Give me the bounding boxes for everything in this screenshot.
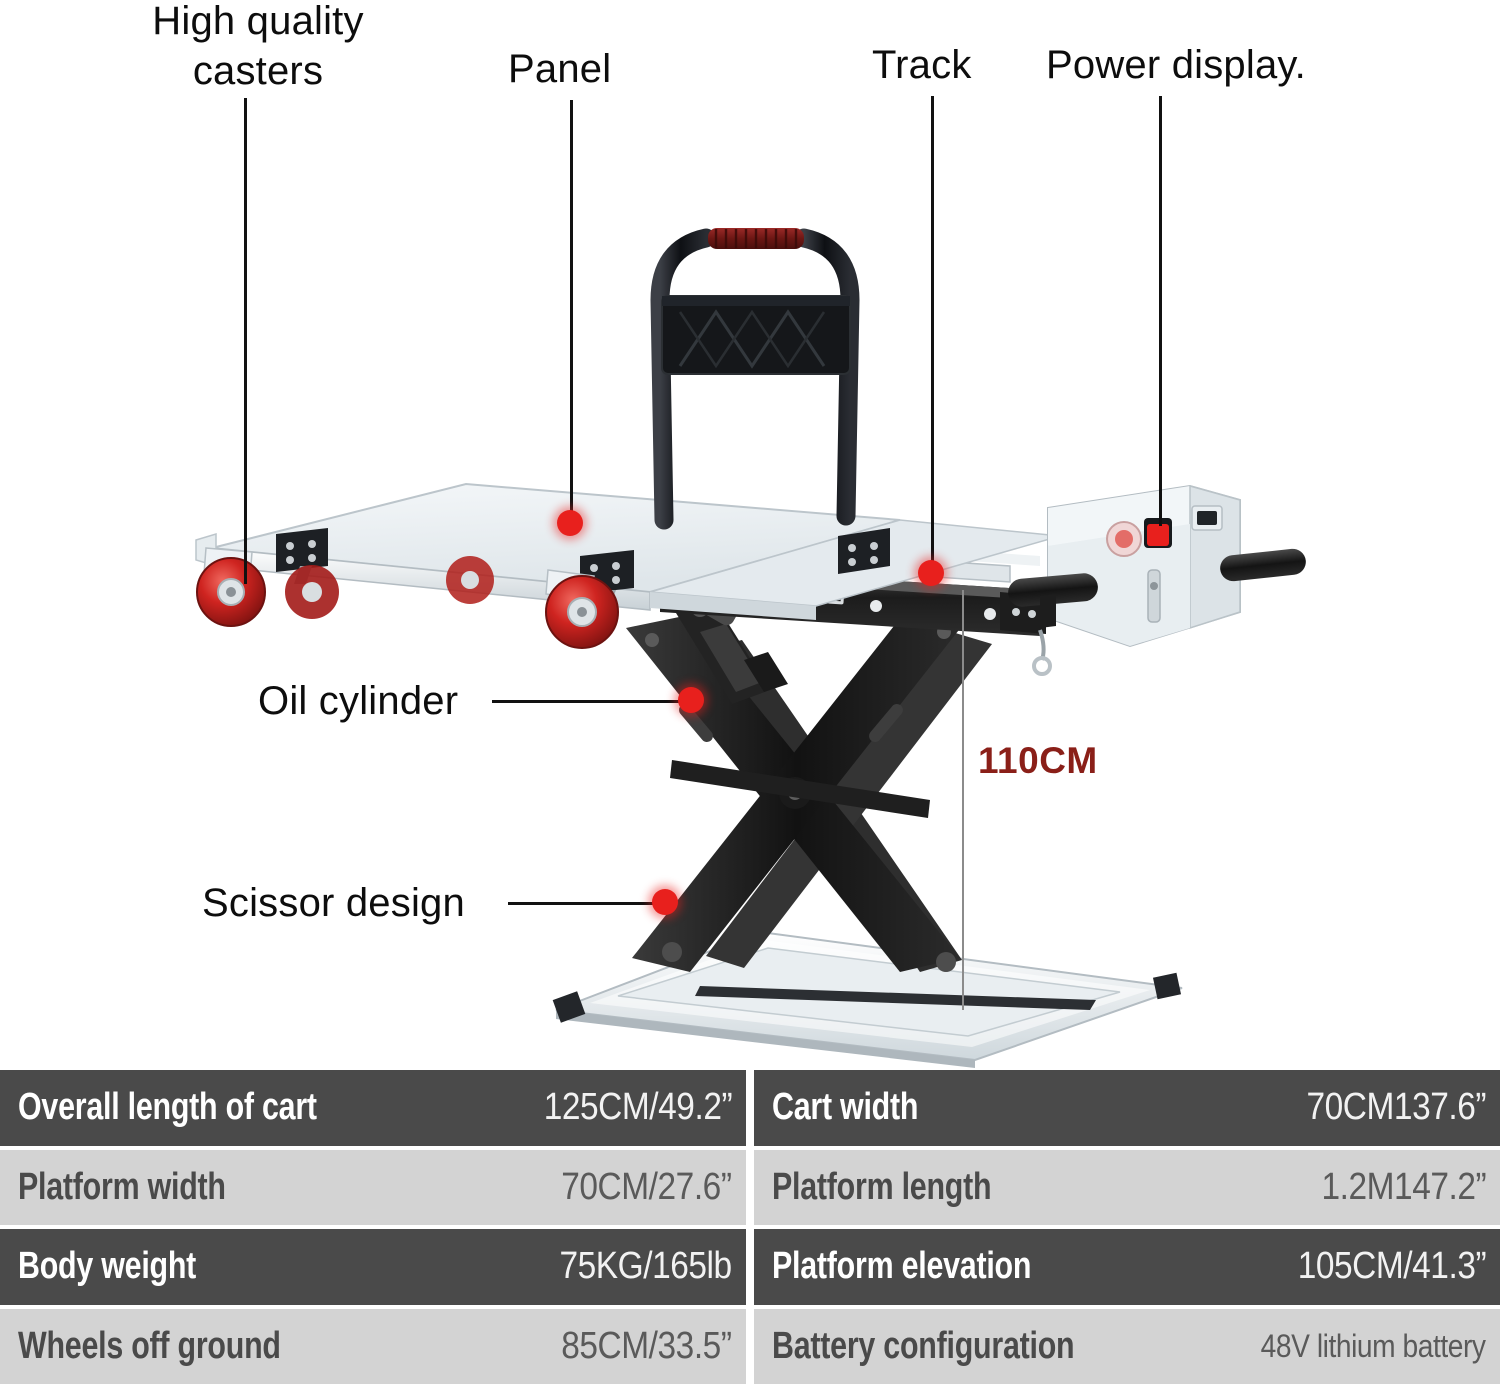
callout-scissor-design: Scissor design <box>202 878 465 928</box>
spec-value: 70CM137.6” <box>1306 1086 1486 1129</box>
spec-value: 1.2M147.2” <box>1321 1166 1486 1209</box>
marker-dot-oil-cylinder <box>678 687 704 713</box>
spec-value: 105CM/41.3” <box>1298 1245 1486 1288</box>
specification-table: Overall length of cart 125CM/49.2” Platf… <box>0 1070 1500 1384</box>
push-handle <box>660 228 850 520</box>
leader-line-scissor-design <box>508 902 660 905</box>
spec-label: Cart width <box>772 1086 918 1129</box>
dimension-line-height <box>962 590 964 1010</box>
spec-label: Platform width <box>18 1166 226 1209</box>
spec-value: 48V lithium battery <box>1261 1328 1486 1365</box>
spec-row-platform-elevation: Platform elevation 105CM/41.3” <box>754 1229 1500 1305</box>
leader-line-oil-cylinder <box>492 700 690 703</box>
spec-label: Platform elevation <box>772 1245 1031 1288</box>
spec-label: Body weight <box>18 1245 196 1288</box>
spec-label: Wheels off ground <box>18 1325 281 1368</box>
spec-row-wheels-off-ground: Wheels off ground 85CM/33.5” <box>0 1309 746 1384</box>
spec-value: 70CM/27.6” <box>562 1166 732 1209</box>
spec-row-overall-length: Overall length of cart 125CM/49.2” <box>0 1070 746 1146</box>
spec-row-body-weight: Body weight 75KG/165lb <box>0 1229 746 1305</box>
callout-high-quality-casters: High quality casters <box>108 0 408 96</box>
spec-label: Battery configuration <box>772 1325 1074 1368</box>
spec-table-right-column: Cart width 70CM137.6” Platform length 1.… <box>754 1070 1500 1384</box>
spec-row-battery-configuration: Battery configuration 48V lithium batter… <box>754 1309 1500 1384</box>
marker-dot-track <box>918 560 944 586</box>
leader-line-casters <box>244 98 247 584</box>
spec-row-cart-width: Cart width 70CM137.6” <box>754 1070 1500 1146</box>
callout-track: Track <box>872 40 972 90</box>
spec-table-left-column: Overall length of cart 125CM/49.2” Platf… <box>0 1070 746 1384</box>
product-diagram: High quality casters Panel Track Power d… <box>0 0 1500 1070</box>
scissor-mechanism <box>626 612 992 972</box>
spec-label: Overall length of cart <box>18 1086 317 1129</box>
marker-dot-scissor-design <box>652 889 678 915</box>
control-box <box>1007 486 1307 646</box>
leader-line-power-display <box>1159 96 1162 526</box>
spec-value: 125CM/49.2” <box>544 1086 732 1129</box>
callout-power-display: Power display. <box>1046 40 1306 90</box>
callout-panel: Panel <box>508 44 611 94</box>
leader-line-track <box>931 96 934 566</box>
marker-dot-panel <box>557 510 583 536</box>
spec-value: 85CM/33.5” <box>562 1325 732 1368</box>
dimension-label-height: 110CM <box>978 740 1098 782</box>
spec-label: Platform length <box>772 1166 991 1209</box>
callout-oil-cylinder: Oil cylinder <box>258 676 458 726</box>
spec-row-platform-length: Platform length 1.2M147.2” <box>754 1150 1500 1226</box>
spec-row-platform-width: Platform width 70CM/27.6” <box>0 1150 746 1226</box>
leader-line-panel <box>570 100 573 516</box>
spec-value: 75KG/165lb <box>560 1245 732 1288</box>
